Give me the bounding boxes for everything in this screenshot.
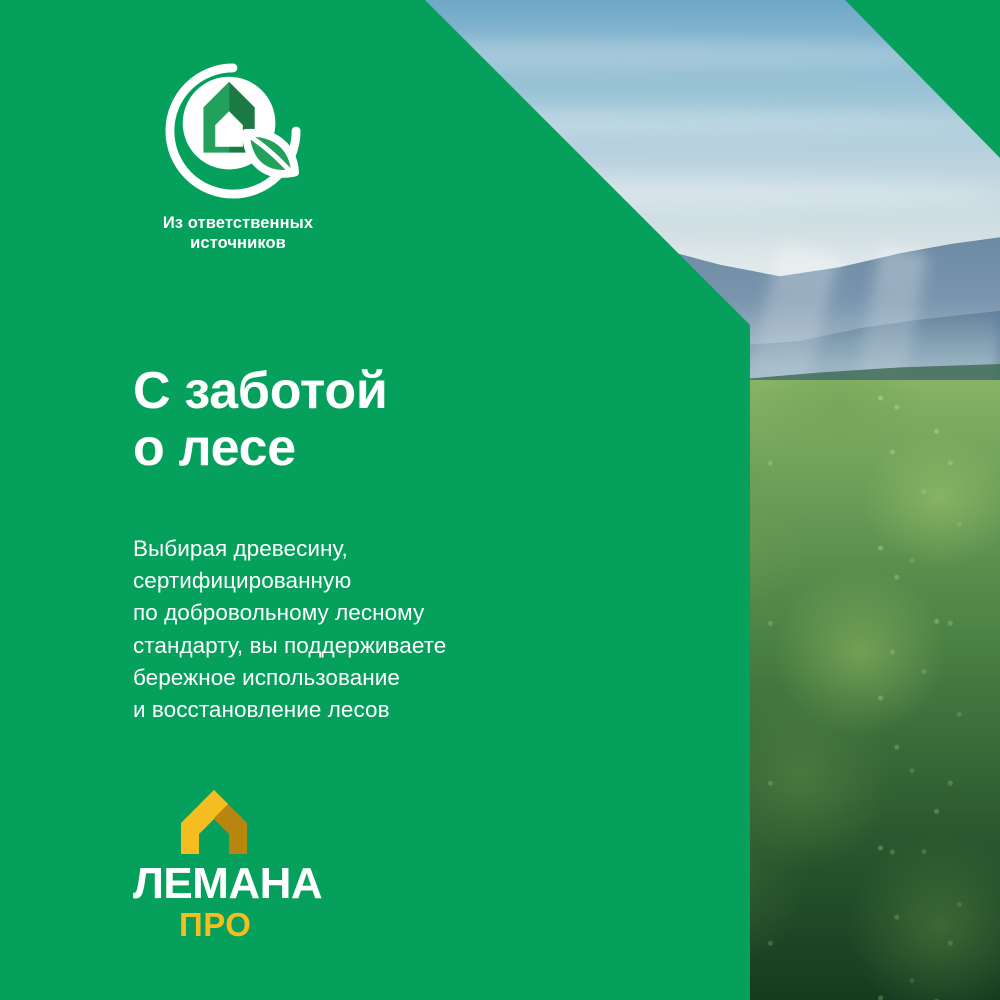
- responsible-sources-badge: Из ответственных источников: [132, 62, 392, 254]
- responsible-sources-caption: Из ответственных источников: [132, 213, 344, 254]
- lemana-wordmark: ЛЕМАНА: [133, 862, 343, 906]
- headline-line-2: о лесе: [133, 420, 387, 477]
- body-line-6: и восстановление лесов: [133, 694, 446, 726]
- body-line-3: по добровольному лесному: [133, 597, 446, 629]
- body-copy: Выбирая древесину, сертифицированную по …: [133, 533, 446, 726]
- poster: Из ответственных источников С заботой о …: [0, 0, 1000, 1000]
- lemana-house-icon: [177, 788, 251, 856]
- body-line-1: Выбирая древесину,: [133, 533, 446, 565]
- body-line-4: стандарту, вы поддерживаете: [133, 630, 446, 662]
- eco-caption-line-2: источников: [132, 233, 344, 253]
- body-line-5: бережное использование: [133, 662, 446, 694]
- page-title: С заботой о лесе: [133, 363, 387, 476]
- responsible-sources-emblem-icon: [164, 62, 302, 200]
- headline-line-1: С заботой: [133, 363, 387, 420]
- poster-content: Из ответственных источников С заботой о …: [0, 0, 1000, 1000]
- lemana-pro-logo: ЛЕМАНА ПРО: [133, 788, 343, 941]
- body-line-2: сертифицированную: [133, 565, 446, 597]
- eco-caption-line-1: Из ответственных: [132, 213, 344, 233]
- lemana-pro-suffix: ПРО: [179, 908, 343, 941]
